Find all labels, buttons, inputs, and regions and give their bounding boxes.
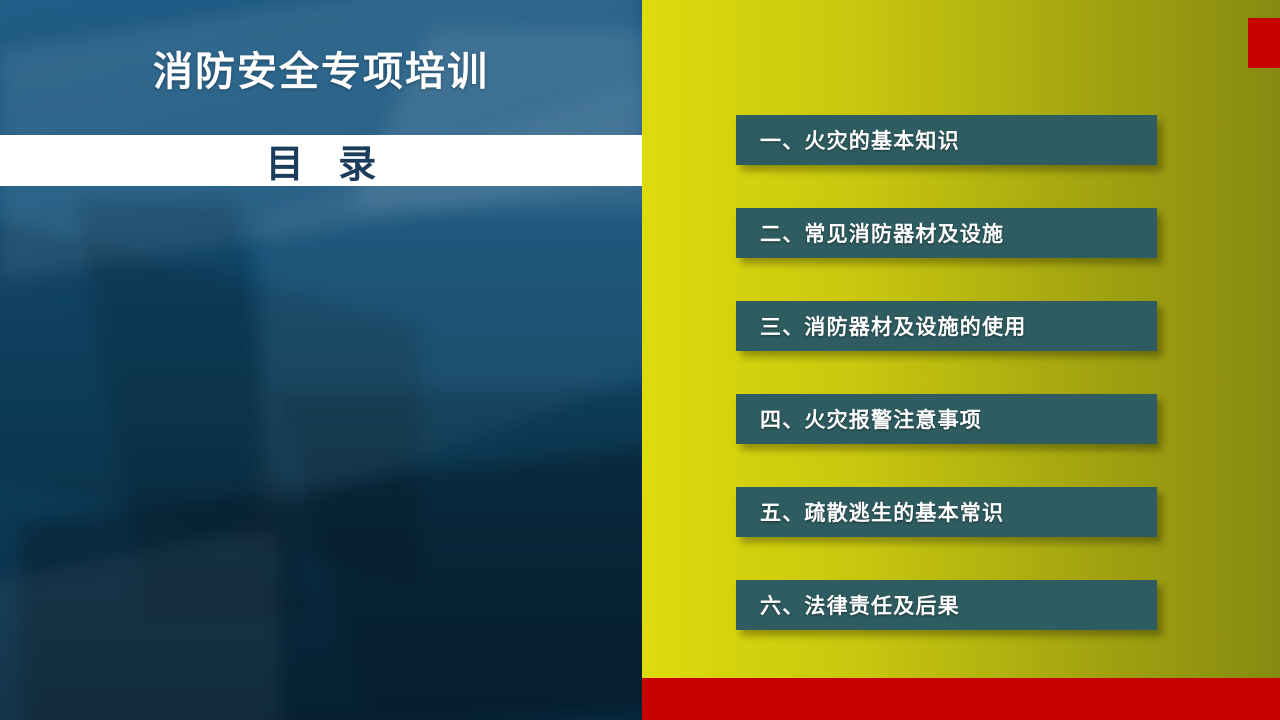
contents-item-4[interactable]: 四、火灾报警注意事项 [736, 394, 1157, 444]
contents-item-5[interactable]: 五、疏散逃生的基本常识 [736, 487, 1157, 537]
contents-item-2[interactable]: 二、常见消防器材及设施 [736, 208, 1157, 258]
contents-item-1[interactable]: 一、火灾的基本知识 [736, 115, 1157, 165]
contents-item-label: 三、消防器材及设施的使用 [736, 311, 1026, 341]
contents-menu-list: 一、火灾的基本知识 二、常见消防器材及设施 三、消防器材及设施的使用 四、火灾报… [736, 115, 1157, 630]
contents-item-label: 四、火灾报警注意事项 [736, 404, 982, 434]
right-yellow-panel: 一、火灾的基本知识 二、常见消防器材及设施 三、消防器材及设施的使用 四、火灾报… [642, 0, 1280, 720]
slide-title: 消防安全专项培训 [153, 39, 489, 97]
left-blue-panel: 消防安全专项培训 [0, 0, 642, 720]
red-footer-band [642, 678, 1280, 720]
contents-item-label: 五、疏散逃生的基本常识 [736, 497, 1004, 527]
slide-title-area: 消防安全专项培训 [0, 0, 642, 135]
contents-item-label: 一、火灾的基本知识 [736, 125, 960, 155]
contents-item-label: 二、常见消防器材及设施 [736, 218, 1004, 248]
contents-item-6[interactable]: 六、法律责任及后果 [736, 580, 1157, 630]
table-of-contents-label: 目 录 [254, 133, 389, 188]
contents-item-3[interactable]: 三、消防器材及设施的使用 [736, 301, 1157, 351]
red-accent-block [1248, 18, 1280, 68]
table-of-contents-banner: 目 录 [0, 135, 642, 186]
contents-item-label: 六、法律责任及后果 [736, 590, 960, 620]
presentation-slide: 消防安全专项培训 目 录 一、火灾的基本知识 二、常见消防器材及设施 三、消防器… [0, 0, 1280, 720]
